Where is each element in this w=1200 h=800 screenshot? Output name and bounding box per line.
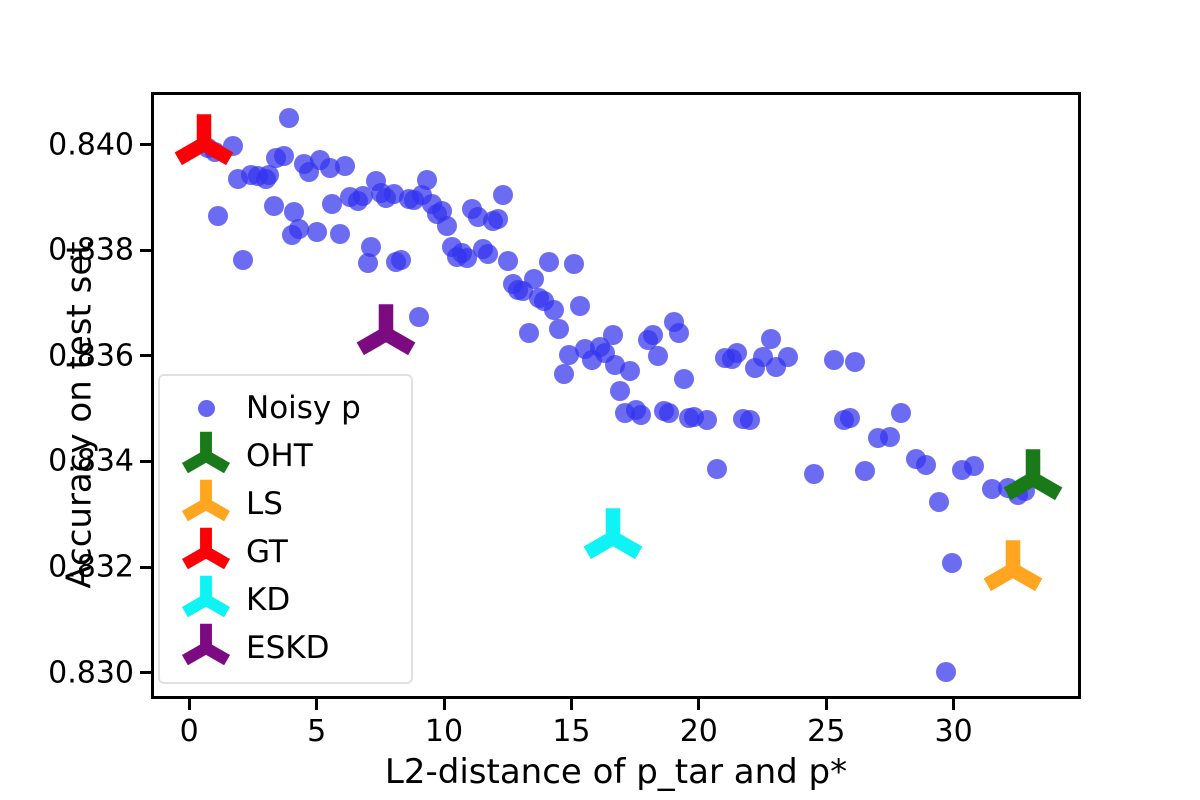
- data-point-noisy-p: [761, 329, 781, 349]
- data-point-noisy-p: [648, 346, 668, 366]
- legend-label: KD: [242, 582, 290, 618]
- data-point-noisy-p: [307, 222, 327, 242]
- data-point-noisy-p: [643, 325, 663, 345]
- legend-marker-eskd-icon: [170, 624, 242, 672]
- data-point-noisy-p: [488, 209, 508, 229]
- data-point-noisy-p: [929, 492, 949, 512]
- legend-item-noisy-p[interactable]: Noisy p: [170, 384, 401, 432]
- data-point-noisy-p: [335, 156, 355, 176]
- data-point-noisy-p: [264, 196, 284, 216]
- data-point-noisy-p: [493, 185, 513, 205]
- legend-marker-kd-icon: [170, 576, 242, 624]
- marker-kd-icon: [580, 505, 646, 571]
- x-tick-label: 15: [552, 714, 590, 749]
- data-point-noisy-p: [498, 251, 518, 271]
- data-point-noisy-p: [208, 206, 228, 226]
- data-point-noisy-p: [524, 269, 544, 289]
- data-point-noisy-p: [519, 323, 539, 343]
- y-tick: [140, 354, 151, 357]
- data-point-noisy-p: [824, 350, 844, 370]
- legend-item-oht[interactable]: OHT: [170, 432, 401, 480]
- data-point-noisy-p: [840, 408, 860, 428]
- y-tick: [140, 671, 151, 674]
- x-tick: [697, 699, 700, 710]
- legend-marker-ls-icon: [170, 480, 242, 528]
- legend-item-gt[interactable]: GT: [170, 528, 401, 576]
- legend-label: ESKD: [242, 630, 329, 666]
- y-tick: [140, 566, 151, 569]
- data-point-noisy-p: [674, 369, 694, 389]
- marker-ls-icon: [980, 537, 1046, 603]
- data-point-noisy-p: [478, 244, 498, 264]
- data-point-noisy-p: [845, 352, 865, 372]
- data-point-noisy-p: [707, 459, 727, 479]
- x-tick-label: 30: [935, 714, 973, 749]
- y-tick: [140, 143, 151, 146]
- data-point-noisy-p: [330, 224, 350, 244]
- legend[interactable]: Noisy pOHTLSGTKDESKD: [158, 374, 413, 684]
- data-point-noisy-p: [659, 403, 679, 423]
- data-point-noisy-p: [409, 307, 429, 327]
- y-tick: [140, 460, 151, 463]
- x-axis-label: L2-distance of p_tar and p*: [151, 752, 1081, 792]
- data-point-noisy-p: [880, 427, 900, 447]
- legend-marker-noisy-p-icon: [170, 384, 242, 432]
- data-point-noisy-p: [964, 456, 984, 476]
- x-tick: [443, 699, 446, 710]
- data-point-noisy-p: [564, 254, 584, 274]
- data-point-noisy-p: [233, 250, 253, 270]
- legend-label: Noisy p: [242, 390, 361, 426]
- data-point-noisy-p: [361, 237, 381, 257]
- data-point-noisy-p: [417, 170, 437, 190]
- scatter-figure: 0510152025300.8300.8320.8340.8360.8380.8…: [0, 0, 1200, 800]
- data-point-noisy-p: [631, 405, 651, 425]
- x-tick: [570, 699, 573, 710]
- x-tick-label: 10: [425, 714, 463, 749]
- data-point-noisy-p: [620, 361, 640, 381]
- y-tick: [140, 249, 151, 252]
- x-tick: [952, 699, 955, 710]
- data-point-noisy-p: [891, 403, 911, 423]
- data-point-noisy-p: [544, 300, 564, 320]
- marker-eskd-icon: [353, 301, 419, 367]
- legend-label: LS: [242, 486, 283, 522]
- data-point-noisy-p: [1015, 481, 1035, 501]
- data-point-noisy-p: [804, 464, 824, 484]
- data-point-noisy-p: [539, 252, 559, 272]
- data-point-noisy-p: [610, 381, 630, 401]
- data-point-noisy-p: [740, 410, 760, 430]
- x-tick-label: 20: [680, 714, 718, 749]
- y-axis-label: Accuracy on test set: [60, 112, 100, 719]
- x-tick-label: 0: [180, 714, 199, 749]
- data-point-noisy-p: [549, 319, 569, 339]
- data-point-noisy-p: [727, 343, 747, 363]
- data-point-noisy-p: [570, 296, 590, 316]
- x-tick: [825, 699, 828, 710]
- data-point-noisy-p: [437, 216, 457, 236]
- data-point-noisy-p: [916, 455, 936, 475]
- x-tick: [188, 699, 191, 710]
- legend-marker-oht-icon: [170, 432, 242, 480]
- data-point-noisy-p: [223, 136, 243, 156]
- legend-label: GT: [242, 534, 288, 570]
- x-tick: [315, 699, 318, 710]
- data-point-noisy-p: [697, 410, 717, 430]
- data-point-noisy-p: [942, 553, 962, 573]
- data-point-noisy-p: [391, 250, 411, 270]
- legend-item-ls[interactable]: LS: [170, 480, 401, 528]
- data-point-noisy-p: [778, 347, 798, 367]
- legend-item-kd[interactable]: KD: [170, 576, 401, 624]
- data-point-noisy-p: [279, 108, 299, 128]
- data-point-noisy-p: [259, 165, 279, 185]
- x-tick-label: 25: [807, 714, 845, 749]
- data-point-noisy-p: [669, 323, 689, 343]
- x-tick-label: 5: [307, 714, 326, 749]
- data-point-noisy-p: [936, 662, 956, 682]
- data-point-noisy-p: [274, 146, 294, 166]
- data-point-noisy-p: [554, 364, 574, 384]
- data-point-noisy-p: [855, 461, 875, 481]
- data-point-noisy-p: [603, 325, 623, 345]
- legend-item-eskd[interactable]: ESKD: [170, 624, 401, 672]
- legend-marker-gt-icon: [170, 528, 242, 576]
- legend-label: OHT: [242, 438, 313, 474]
